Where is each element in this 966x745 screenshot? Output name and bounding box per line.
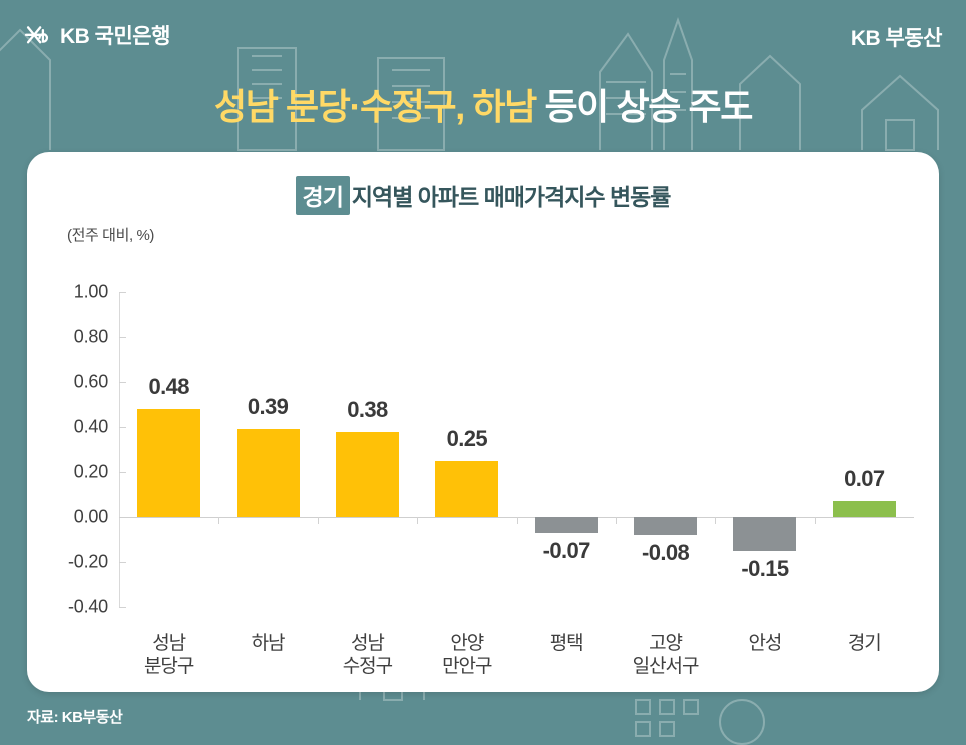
bar-chart-plot-area: 1.000.800.600.400.200.00-0.20-0.400.48성남… <box>119 292 914 607</box>
axis-unit-label: (전주 대비, %) <box>67 224 154 245</box>
y-axis-tick-mark <box>119 292 126 293</box>
x-axis-tick-mark <box>815 517 816 524</box>
x-axis-tick-mark <box>715 517 716 524</box>
x-axis-tick-mark <box>517 517 518 524</box>
chart-title: 경기지역별 아파트 매매가격지수 변동률 <box>27 176 939 215</box>
y-axis-tick-label: 0.80 <box>74 327 119 348</box>
bar-value-label: -0.15 <box>716 556 813 582</box>
page-headline: 성남 분당·수정구, 하남 등이 상승 주도 <box>0 78 966 130</box>
y-axis-tick-label: -0.40 <box>68 597 119 618</box>
chart-card: 경기지역별 아파트 매매가격지수 변동률 (전주 대비, %) 1.000.80… <box>27 152 939 692</box>
y-axis-tick-mark <box>119 427 126 428</box>
bar <box>237 429 300 517</box>
page-header: KB 국민은행 KB 부동산 성남 분당·수정구, 하남 등이 상승 주도 <box>0 0 966 140</box>
bar-value-label: 0.38 <box>319 397 416 423</box>
x-axis-tick-mark <box>318 517 319 524</box>
bar-value-label: -0.08 <box>617 540 714 566</box>
x-axis-category-label: 경기 <box>804 632 925 655</box>
bar <box>535 517 598 533</box>
y-axis-tick-label: 0.00 <box>74 507 119 528</box>
x-axis-tick-mark <box>417 517 418 524</box>
region-chip-badge: 경기 <box>296 176 350 215</box>
bar <box>435 461 498 517</box>
source-note: 자료: KB부동산 <box>27 706 122 727</box>
y-axis-tick-label: 0.40 <box>74 417 119 438</box>
y-axis-tick-label: 1.00 <box>74 282 119 303</box>
kb-real-estate-logo: KB 부동산 <box>851 22 942 52</box>
infographic-root: { "header": { "logo_left": "KB 국민은행", "l… <box>0 0 966 745</box>
headline-normal-text: 등이 상승 주도 <box>536 86 752 127</box>
chart-title-rest: 지역별 아파트 매매가격지수 변동률 <box>352 184 671 210</box>
y-axis-line <box>119 292 120 607</box>
bar <box>137 409 200 517</box>
y-axis-tick-mark <box>119 607 126 608</box>
bar-value-label: 0.25 <box>418 426 515 452</box>
x-axis-tick-mark <box>616 517 617 524</box>
y-axis-tick-mark <box>119 337 126 338</box>
y-axis-tick-mark <box>119 562 126 563</box>
y-axis-tick-label: -0.20 <box>68 552 119 573</box>
bar-value-label: 0.48 <box>120 374 217 400</box>
bar <box>833 501 896 517</box>
bar <box>634 517 697 535</box>
bar-value-label: -0.07 <box>518 538 615 564</box>
bar <box>336 432 399 518</box>
kb-kookmin-bank-logo: KB 국민은행 <box>24 20 170 50</box>
x-axis-tick-mark <box>218 517 219 524</box>
y-axis-tick-mark <box>119 472 126 473</box>
bar-value-label: 0.07 <box>816 466 913 492</box>
kb-star-icon <box>24 22 51 49</box>
y-axis-tick-label: 0.20 <box>74 462 119 483</box>
y-axis-tick-label: 0.60 <box>74 372 119 393</box>
bar <box>733 517 796 551</box>
kb-kookmin-bank-label: KB 국민은행 <box>60 20 170 50</box>
headline-highlight-text: 성남 분당·수정구, 하남 <box>214 86 536 127</box>
bar-value-label: 0.39 <box>220 394 317 420</box>
